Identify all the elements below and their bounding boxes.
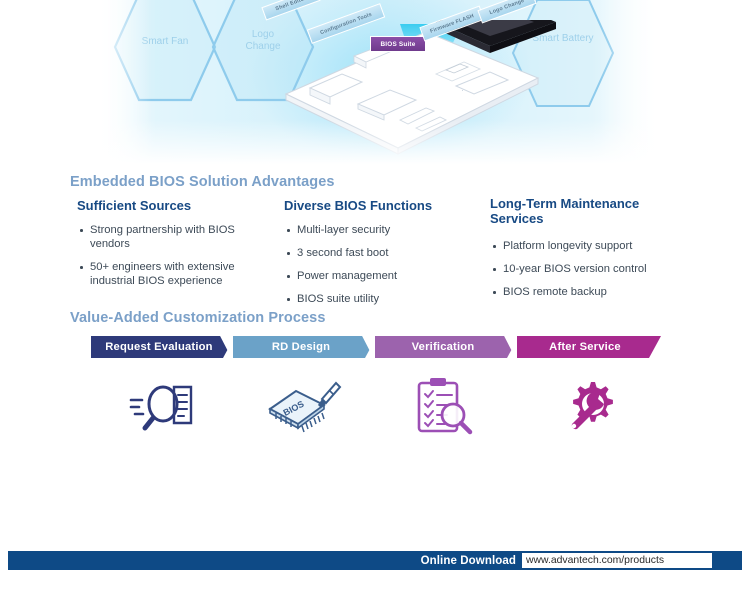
hero-illustration: Smart Fan Logo Change Smart Battery [0, 0, 750, 168]
step-label: After Service [549, 341, 621, 353]
advantages-column-long-term-maintenance: Long-Term Maintenance Services Platform … [490, 196, 680, 308]
step-label: RD Design [272, 341, 330, 353]
advantages-column-sufficient-sources: Sufficient Sources Strong partnership wi… [77, 198, 262, 297]
column-list: Strong partnership with BIOS vendors 50+… [77, 223, 262, 288]
column-heading: Diverse BIOS Functions [284, 198, 474, 213]
column-list: Platform longevity support 10-year BIOS … [490, 239, 680, 299]
step-banner: RD Design [233, 336, 377, 358]
column-heading: Long-Term Maintenance Services [490, 196, 640, 226]
footer-bar: Online Download [8, 551, 742, 570]
step-banner: Verification [375, 336, 519, 358]
step-label: Verification [412, 341, 475, 353]
process-step-after-service[interactable]: After Service [501, 330, 675, 455]
gear-wrench-icon [501, 366, 675, 446]
process-section-title: Value-Added Customization Process [70, 310, 326, 326]
advantages-section-title: Embedded BIOS Solution Advantages [70, 174, 335, 190]
list-item: Multi-layer security [284, 223, 474, 237]
list-item: 50+ engineers with extensive industrial … [77, 260, 262, 288]
step-banner: Request Evaluation [91, 336, 235, 358]
list-item: 3 second fast boot [284, 246, 474, 260]
hero-fade-bottom [0, 120, 750, 168]
list-item: Power management [284, 269, 474, 283]
list-item: Platform longevity support [490, 239, 680, 253]
online-download-label: Online Download [421, 555, 516, 567]
download-url-field[interactable] [522, 553, 712, 568]
advantages-column-diverse-bios-functions: Diverse BIOS Functions Multi-layer secur… [284, 198, 474, 315]
step-banner: After Service [517, 336, 661, 358]
list-item: BIOS suite utility [284, 292, 474, 306]
list-item: 10-year BIOS version control [490, 262, 680, 276]
chip-label-bios-suite: BIOS Suite [370, 36, 426, 52]
process-chevron-row: Request Evaluation [75, 330, 675, 460]
column-heading: Sufficient Sources [77, 198, 262, 213]
column-list: Multi-layer security 3 second fast boot … [284, 223, 474, 306]
step-label: Request Evaluation [105, 341, 212, 353]
list-item: BIOS remote backup [490, 285, 680, 299]
list-item: Strong partnership with BIOS vendors [77, 223, 262, 251]
